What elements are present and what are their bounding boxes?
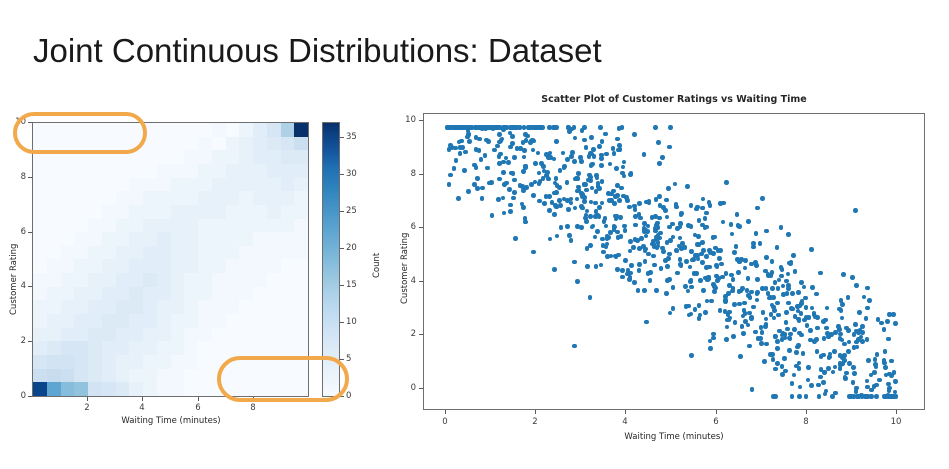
colorbar-tick-5 [340, 359, 344, 360]
scatter-y-axis-label: Customer Rating [400, 233, 410, 304]
heatmap-y-axis-label: Customer Rating [9, 244, 19, 315]
scatter-ytick-6 [419, 227, 423, 228]
heatmap-ytick-0 [28, 396, 32, 397]
colorbar-tick-label-20: 20 [346, 243, 357, 253]
heatmap-xtick-2 [87, 397, 88, 401]
heatmap-figure: 0 2 4 6 8 10 2 4 6 8 Waiting Time (minut… [0, 100, 400, 460]
colorbar-tick-label-10: 10 [346, 317, 357, 327]
scatter-x-axis-label: Waiting Time (minutes) [603, 432, 745, 442]
heatmap-ytick-label-4: 4 [19, 281, 26, 291]
colorbar-tick-20 [340, 248, 344, 249]
colorbar-tick-label-30: 30 [346, 169, 357, 179]
heatmap-ytick-label-2: 2 [19, 336, 26, 346]
scatter-plot-title: Scatter Plot of Customer Ratings vs Wait… [423, 94, 925, 105]
scatter-ytick-label-2: 2 [403, 329, 416, 339]
scatter-xtick-label-4: 4 [615, 417, 635, 427]
scatter-xtick-label-8: 8 [796, 417, 816, 427]
heatmap-x-axis-label: Waiting Time (minutes) [100, 416, 242, 426]
scatter-xtick-8 [806, 410, 807, 414]
highlight-top-left-heatmap [13, 112, 147, 154]
scatter-xtick-label-0: 0 [435, 417, 455, 427]
heatmap-ytick-4 [28, 286, 32, 287]
scatter-xtick-10 [896, 410, 897, 414]
colorbar-tick-15 [340, 285, 344, 286]
heatmap-ytick-label-6: 6 [19, 227, 26, 237]
heatmap-xtick-label-4: 4 [135, 403, 149, 413]
scatter-xtick-label-10: 10 [886, 417, 906, 427]
colorbar-tick-25 [340, 211, 344, 212]
scatter-ytick-10 [419, 120, 423, 121]
heatmap-ytick-label-0: 0 [19, 391, 26, 401]
heatmap-xtick-label-2: 2 [80, 403, 94, 413]
colorbar-tick-label-15: 15 [346, 280, 357, 290]
scatter-xtick-4 [625, 410, 626, 414]
scatter-ytick-8 [419, 174, 423, 175]
colorbar-tick-label-5: 5 [346, 354, 351, 364]
scatter-ytick-label-6: 6 [403, 222, 416, 232]
scatter-xtick-2 [535, 410, 536, 414]
scatter-ytick-label-0: 0 [403, 383, 416, 393]
heatmap-xtick-label-8: 8 [246, 403, 260, 413]
heatmap-xtick-4 [142, 397, 143, 401]
heatmap-xtick-label-6: 6 [191, 403, 205, 413]
heatmap-xtick-6 [198, 397, 199, 401]
scatter-ytick-label-8: 8 [403, 169, 416, 179]
highlight-bottom-right-heatmap [217, 356, 349, 402]
scatter-plot-area [423, 113, 925, 410]
colorbar-tick-label-35: 35 [346, 132, 357, 142]
colorbar-tick-30 [340, 174, 344, 175]
colorbar-tick-label-0: 0 [346, 391, 351, 401]
heatmap-ytick-6 [28, 232, 32, 233]
scatter-xtick-label-6: 6 [706, 417, 726, 427]
scatter-ytick-0 [419, 388, 423, 389]
colorbar-tick-10 [340, 322, 344, 323]
colorbar-tick-35 [340, 137, 344, 138]
page-title: Joint Continuous Distributions: Dataset [33, 33, 602, 69]
colorbar-axis-label: Count [372, 253, 382, 278]
scatter-xtick-label-2: 2 [525, 417, 545, 427]
scatter-figure: Scatter Plot of Customer Ratings vs Wait… [390, 88, 949, 463]
scatter-ytick-4 [419, 281, 423, 282]
heatmap-ytick-2 [28, 341, 32, 342]
scatter-ytick-label-10: 10 [403, 115, 416, 125]
heatmap-ytick-label-8: 8 [19, 172, 26, 182]
scatter-ytick-2 [419, 334, 423, 335]
scatter-points [424, 114, 924, 409]
colorbar-tick-label-25: 25 [346, 206, 357, 216]
scatter-xtick-0 [445, 410, 446, 414]
scatter-xtick-6 [716, 410, 717, 414]
heatmap-ytick-8 [28, 177, 32, 178]
